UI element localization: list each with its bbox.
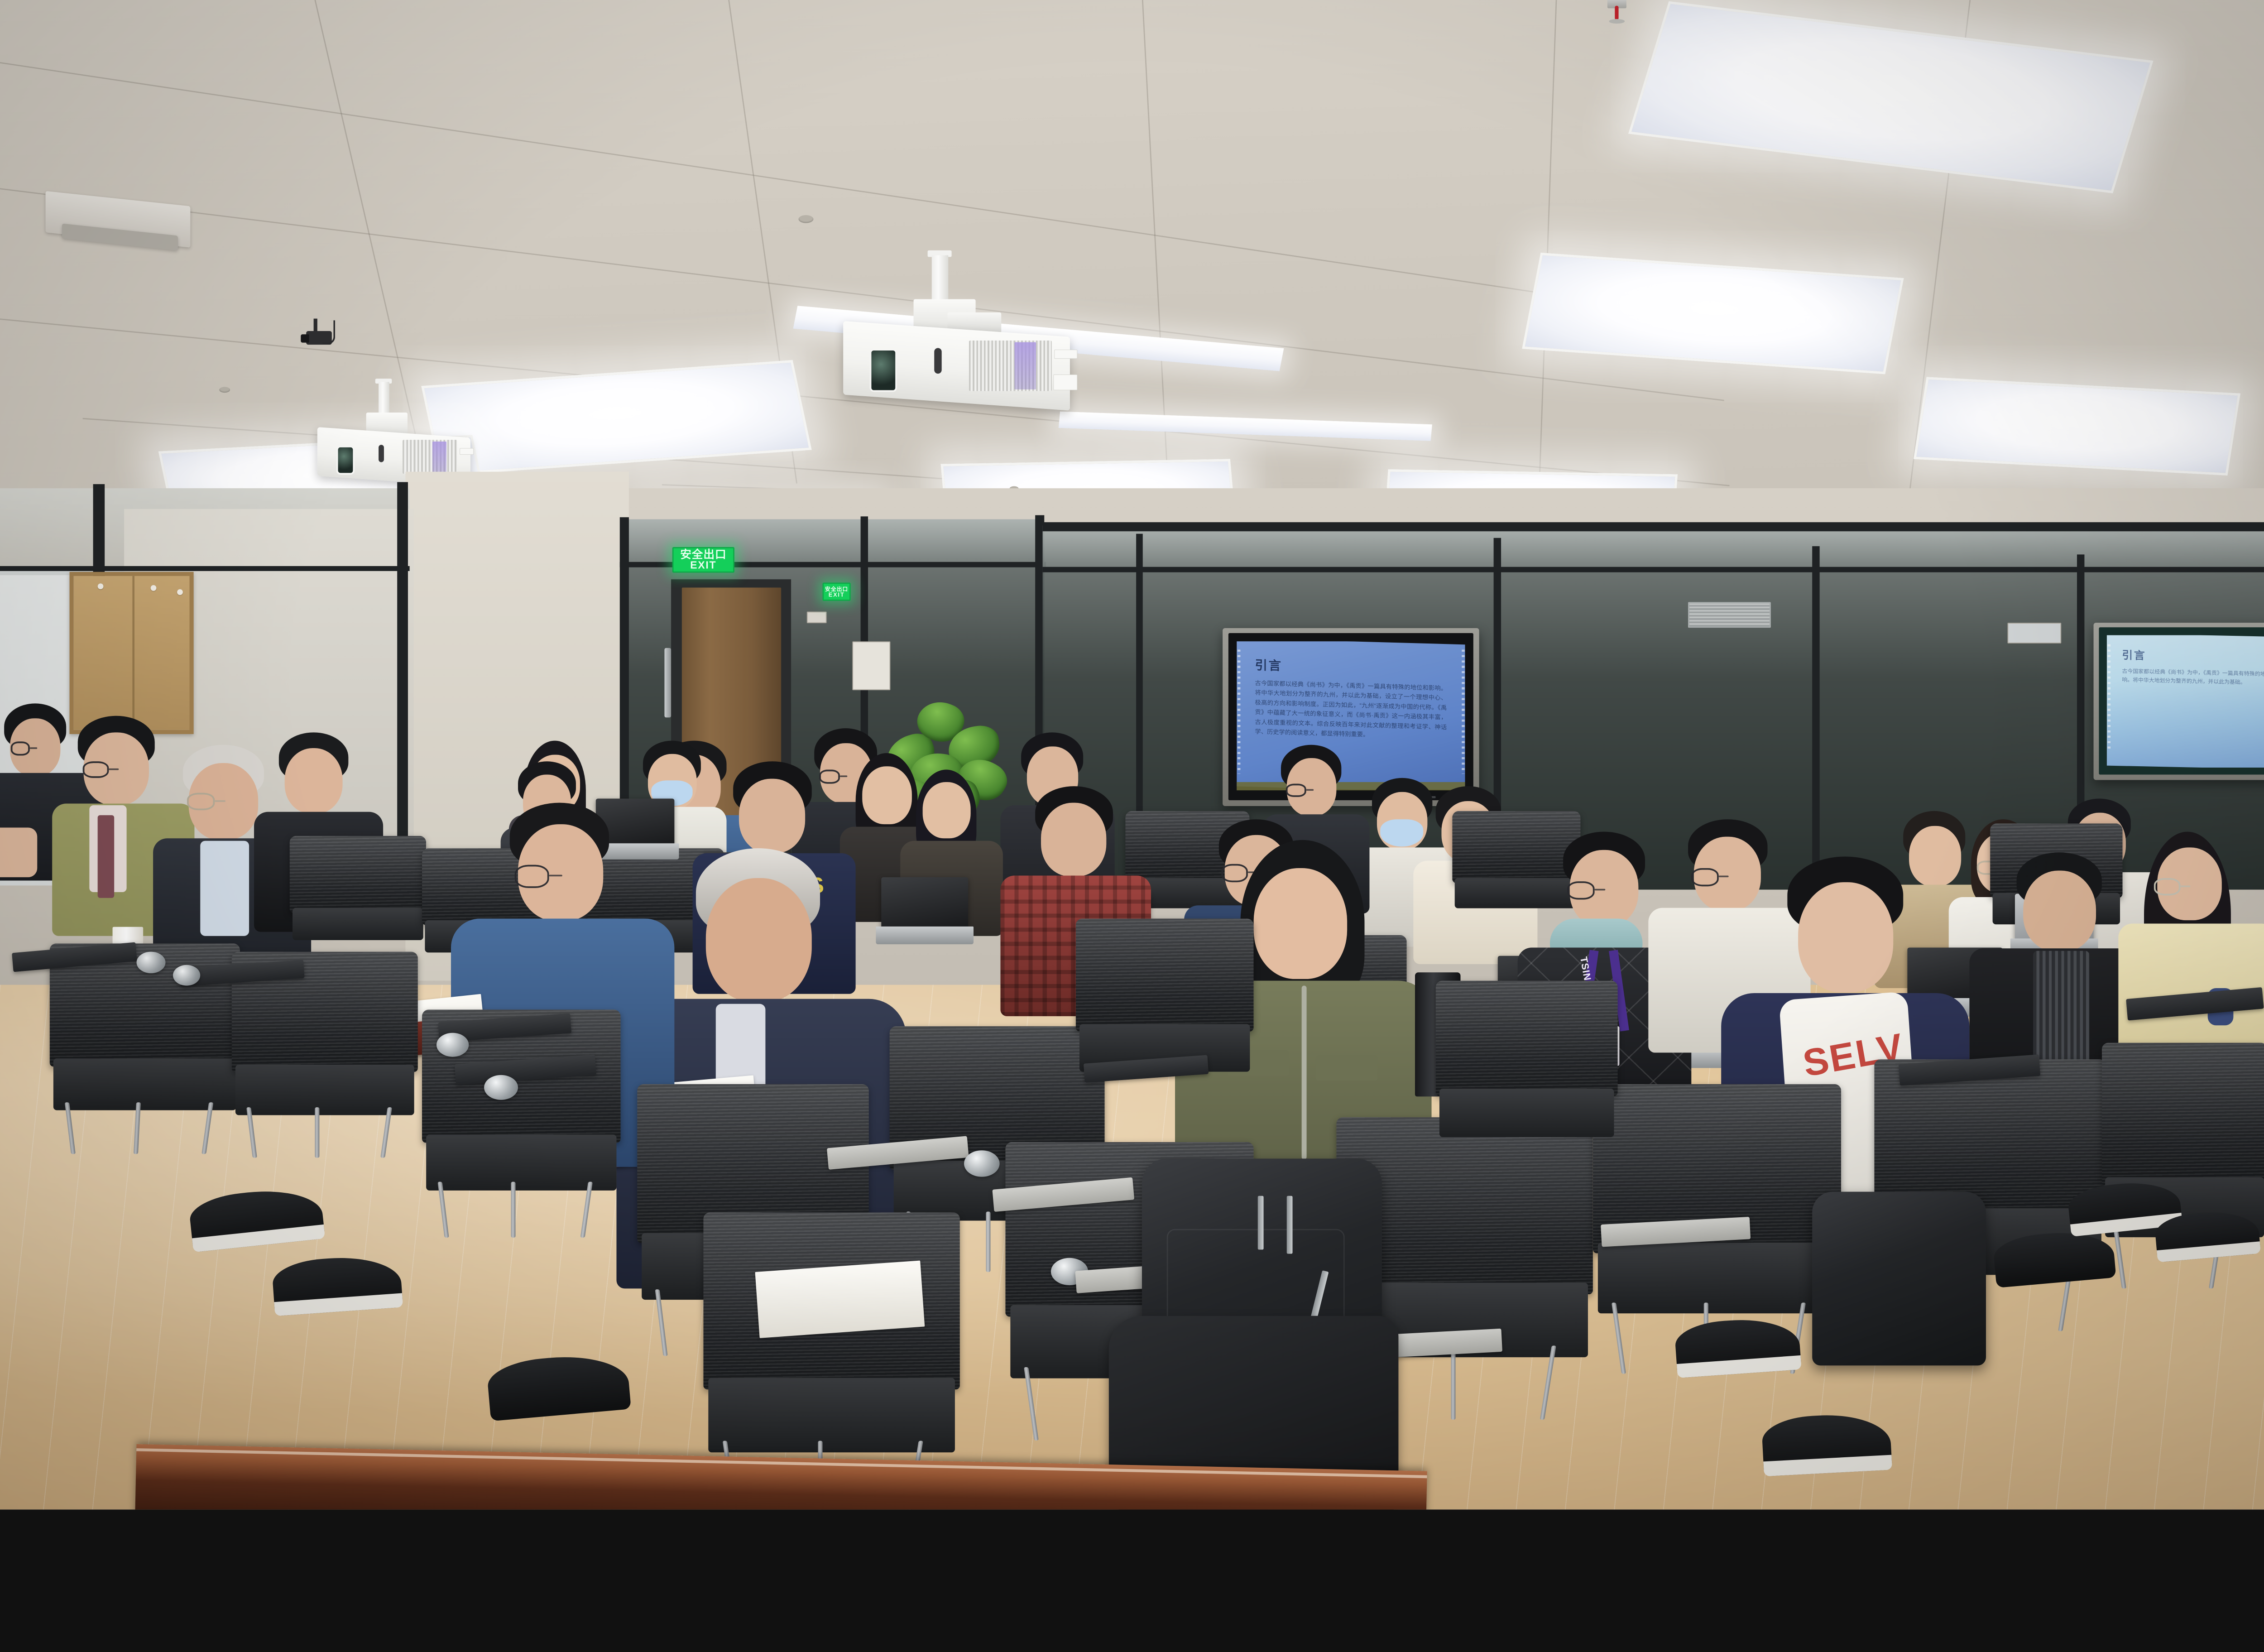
fire-sprinkler-icon: [1607, 0, 1626, 24]
glass-mullion: [0, 566, 410, 571]
slide-body: 古今国家都以经典《尚书》为中，《禹贡》一篇具有特殊的地位和影响。将中华大地划分为…: [2122, 667, 2264, 687]
chair-tablet-hinge: [436, 1033, 469, 1057]
slide-body: 古今国家都以经典《尚书》为中，《禹贡》一篇具有特殊的地位和影响。将中华大地划分为…: [1255, 679, 1447, 743]
wall-notice-card: [852, 641, 890, 690]
exit-sign-primary: 安全出口 EXIT: [672, 547, 734, 573]
chair-tablet-hinge: [964, 1150, 1000, 1177]
ceiling-air-vent: [1688, 602, 1771, 628]
slide-content: 引言 古今国家都以经典《尚书》为中，《禹贡》一篇具有特殊的地位和影响。将中华大地…: [2107, 635, 2264, 768]
secondary-display[interactable]: 引言 古今国家都以经典《尚书》为中，《禹贡》一篇具有特殊的地位和影响。将中华大地…: [2094, 623, 2264, 780]
door-handle[interactable]: [664, 648, 671, 718]
smoke-detector-icon: [799, 215, 814, 223]
chair-tablet-hinge: [137, 952, 166, 974]
chair[interactable]: [290, 836, 427, 960]
projector-center: [823, 250, 1088, 416]
glass-header-beam: [1043, 522, 2264, 531]
wall-control-panel: [2007, 623, 2061, 644]
chair[interactable]: [1436, 981, 1618, 1167]
screen-led-strip: [1238, 650, 1240, 774]
black-backpack-secondary[interactable]: [1812, 1192, 1986, 1366]
slide-title: 引言: [1255, 655, 1447, 678]
paper-on-seat: [755, 1260, 925, 1338]
room-number-plate: [807, 612, 827, 624]
screen-led-strip: [2108, 644, 2111, 752]
smoke-detector-icon: [219, 387, 230, 393]
ceiling-light-panel: [1914, 377, 2240, 475]
exit-sign-cn-text: 安全出口: [825, 586, 848, 591]
glass-transom-bar: [1043, 567, 2264, 572]
exit-sign-en-text: EXIT: [829, 591, 845, 597]
exit-sign-secondary: 安全出口 EXIT: [823, 583, 851, 601]
slide-title: 引言: [2122, 647, 2264, 665]
chair[interactable]: [703, 1212, 960, 1498]
chair-tablet-hinge: [484, 1075, 518, 1100]
jacket-zipper: [1302, 986, 1307, 1160]
exit-sign-en-text: EXIT: [690, 560, 716, 571]
laptop[interactable]: [881, 877, 968, 946]
seminar-room-photo: 安全出口 EXIT 安全出口 EXIT 引言 古今国家都以经典《尚书》为中，《禹…: [0, 0, 2264, 1509]
exit-sign-cn-text: 安全出口: [680, 549, 726, 561]
glass-mullion: [1812, 546, 1819, 869]
ceiling-camera-icon: [306, 319, 339, 348]
chair-tablet-hinge: [173, 965, 200, 986]
jacket-pocket-flap: [1316, 1055, 1378, 1081]
screen-led-strip: [1462, 650, 1464, 774]
